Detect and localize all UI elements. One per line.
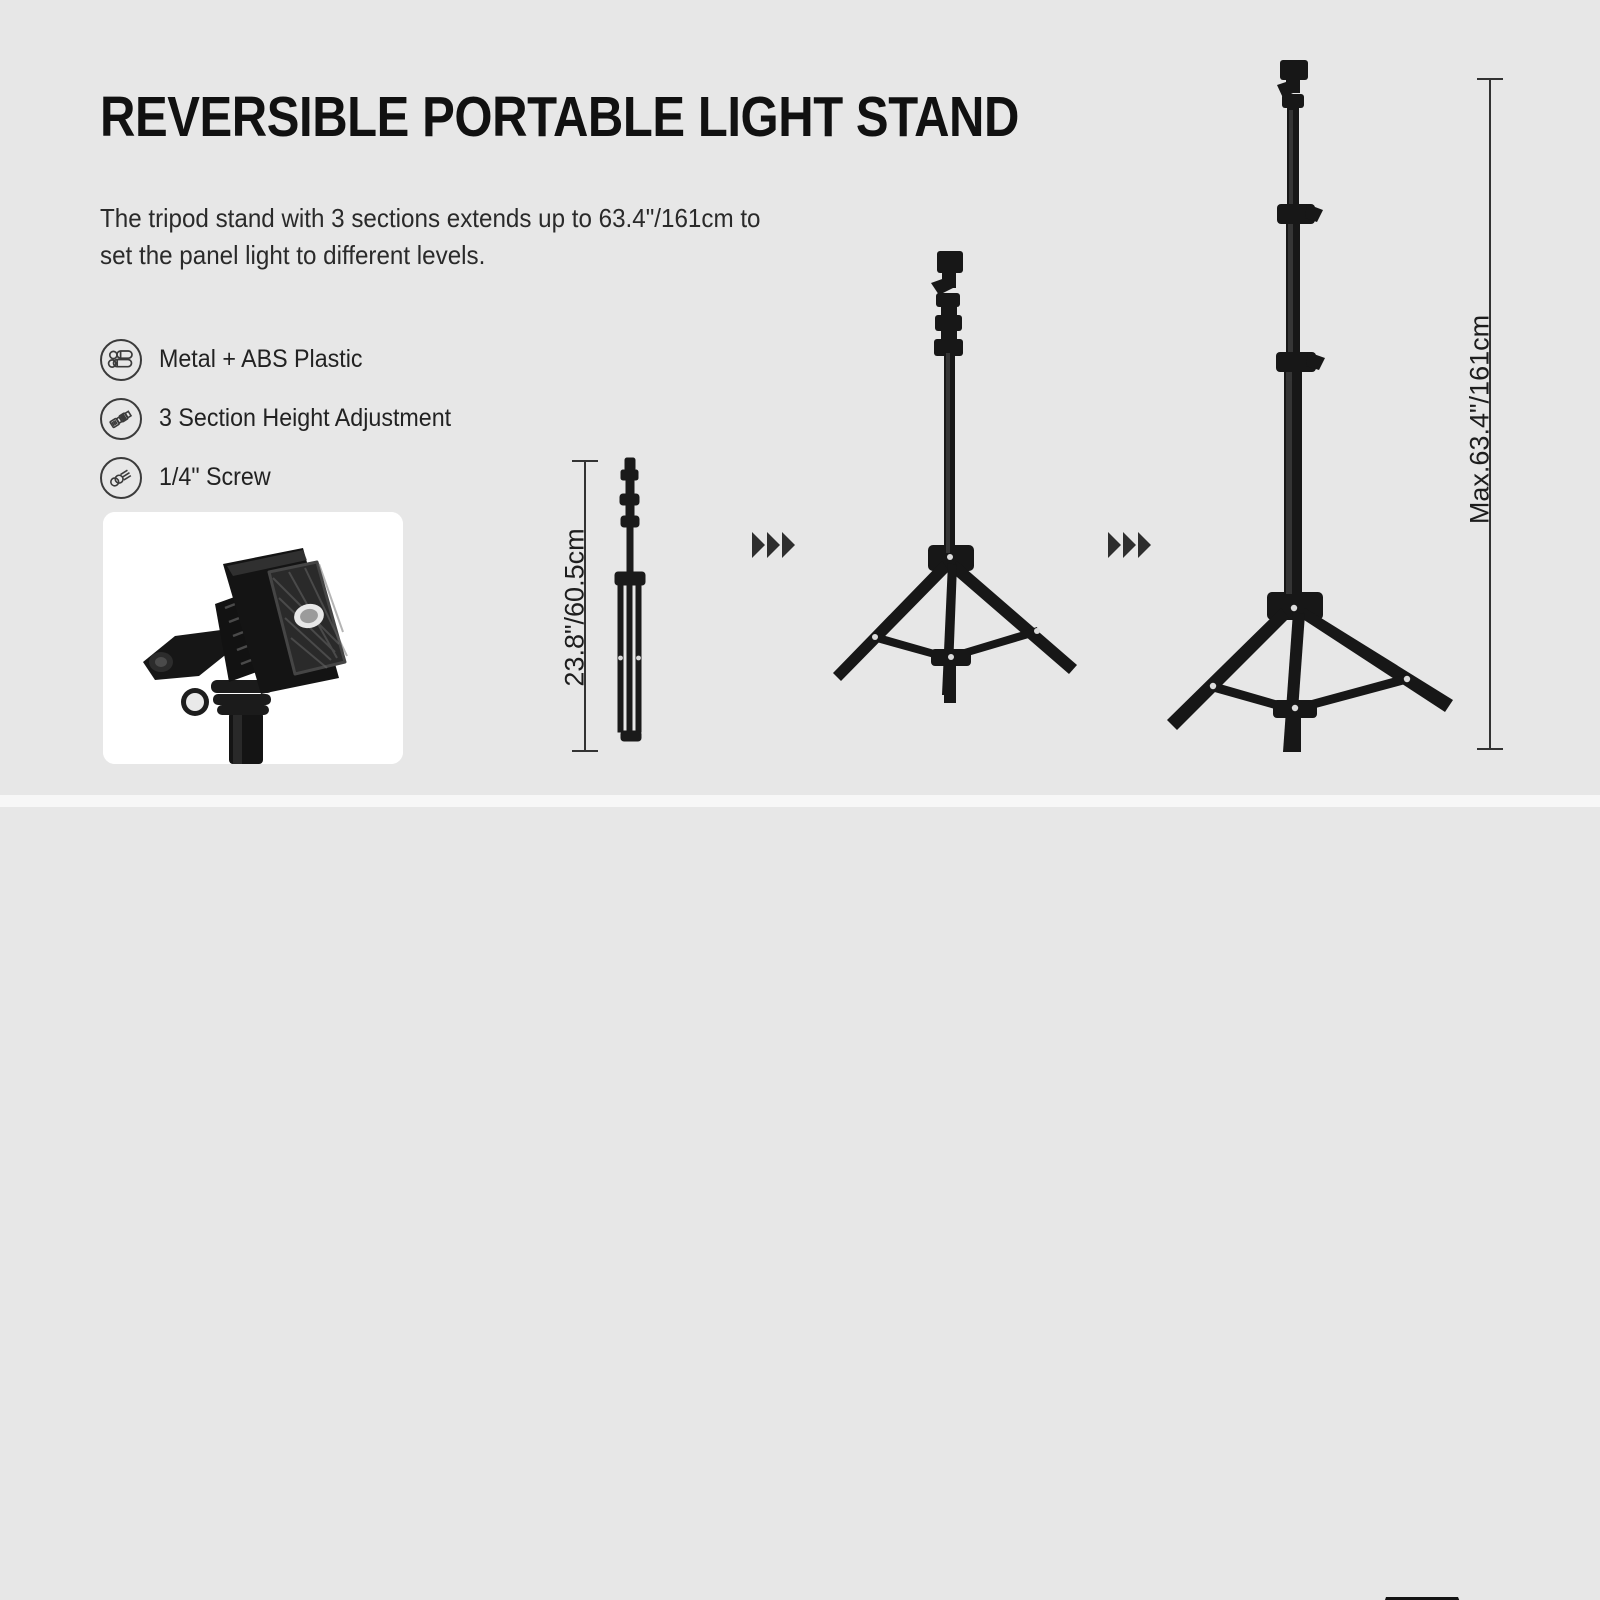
tilt-head-photo-card [103, 512, 403, 764]
screw-icon [100, 457, 142, 499]
feature-label: 1/4" Screw [159, 463, 271, 492]
telescoping-sections-icon [100, 398, 142, 440]
feature-list: Metal + ABS Plastic 3 [100, 330, 473, 507]
tilt-head-mount-photo [103, 512, 403, 764]
tripod-mid-illustration [805, 245, 1095, 755]
feature-label: Metal + ABS Plastic [159, 345, 363, 374]
feature-item-sections: 3 Section Height Adjustment [100, 389, 473, 448]
section-phone-holder: BALL HEAD PHONE HOLDER Compatible with m… [0, 807, 1600, 1600]
dimension-label-min: 23.8"/60.5cm [560, 488, 591, 728]
section-light-stand: REVERSIBLE PORTABLE LIGHT STAND The trip… [0, 0, 1600, 795]
tubes-bundle-icon [100, 339, 142, 381]
page-title: REVERSIBLE PORTABLE LIGHT STAND [100, 88, 1019, 146]
feature-item-material: Metal + ABS Plastic [100, 330, 473, 389]
feature-item-screw: 1/4" Screw [100, 448, 473, 507]
section-description-line1: The tripod stand with 3 sections extends… [100, 200, 760, 237]
section-description-line2: set the panel light to different levels. [100, 237, 485, 274]
dimension-label-max: Max.63.4"/161cm [1465, 270, 1496, 570]
product-infographic: REVERSIBLE PORTABLE LIGHT STAND The trip… [0, 0, 1600, 1600]
tripod-collapsed-illustration [585, 450, 675, 760]
feature-label: 3 Section Height Adjustment [159, 404, 451, 433]
triple-chevron-right-icon-2 [1108, 532, 1151, 558]
tripod-extended-illustration [1155, 52, 1475, 752]
triple-chevron-right-icon [752, 532, 795, 558]
section-divider [0, 795, 1600, 807]
